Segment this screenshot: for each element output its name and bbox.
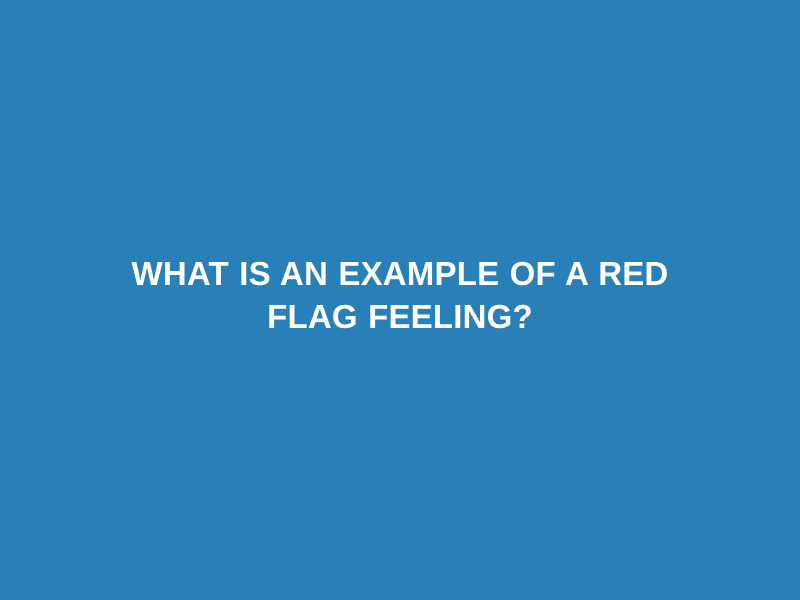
headline-block: What is an example of a red flag feeling… bbox=[92, 252, 708, 338]
page-title: What is an example of a red flag feeling… bbox=[92, 252, 708, 338]
title-card-banner: What is an example of a red flag feeling… bbox=[0, 0, 800, 600]
